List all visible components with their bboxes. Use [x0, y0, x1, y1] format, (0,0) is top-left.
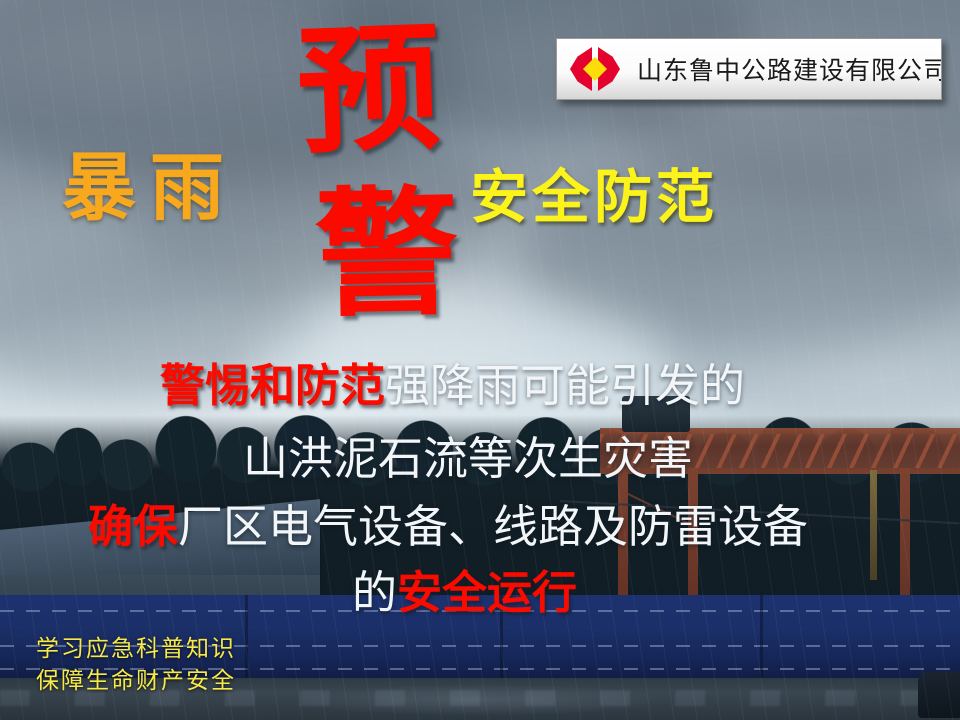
body-line-2: 山洪泥石流等次生灾害 [243, 436, 693, 481]
headline-char-jing: 警 [314, 185, 460, 325]
body-line-4: 的安全运行 [352, 570, 577, 615]
body-line-2-rest: 山洪泥石流等次生灾害 [243, 432, 693, 485]
body-line-1-highlight: 警惕和防范 [160, 359, 385, 412]
body-line-3-highlight: 确保 [88, 500, 178, 553]
body-line-3: 确保厂区电气设备、线路及防雷设备 [88, 504, 808, 549]
slogan-line-2: 保障生命财产安全 [36, 666, 236, 698]
body-line-1-rest: 强降雨可能引发的 [385, 359, 745, 412]
slogan-line-1: 学习应急科普知识 [36, 634, 236, 666]
company-logo-icon [567, 44, 623, 94]
body-line-1: 警惕和防范强降雨可能引发的 [160, 363, 745, 408]
headline-char-yu: 预 [295, 20, 443, 163]
body-line-3-rest: 厂区电气设备、线路及防雷设备 [178, 500, 808, 553]
body-line-4-highlight: 安全运行 [397, 566, 577, 619]
topic-label-baoyu: 暴雨 [62, 128, 238, 235]
company-logo-plaque: 山东鲁中公路建设有限公司 [556, 38, 942, 100]
body-line-4-rest: 的 [352, 566, 397, 619]
subtitle-anquan-fangfan: 安全防范 [470, 150, 718, 234]
poster-canvas: 暴雨 预 警 安全防范 警惕和防范强降雨可能引发的 山洪泥石流等次生灾害 确保厂… [0, 0, 960, 720]
company-name: 山东鲁中公路建设有限公司 [637, 51, 942, 87]
text-layer: 暴雨 预 警 安全防范 警惕和防范强降雨可能引发的 山洪泥石流等次生灾害 确保厂… [0, 0, 960, 720]
bottom-slogan: 学习应急科普知识 保障生命财产安全 [36, 634, 236, 697]
